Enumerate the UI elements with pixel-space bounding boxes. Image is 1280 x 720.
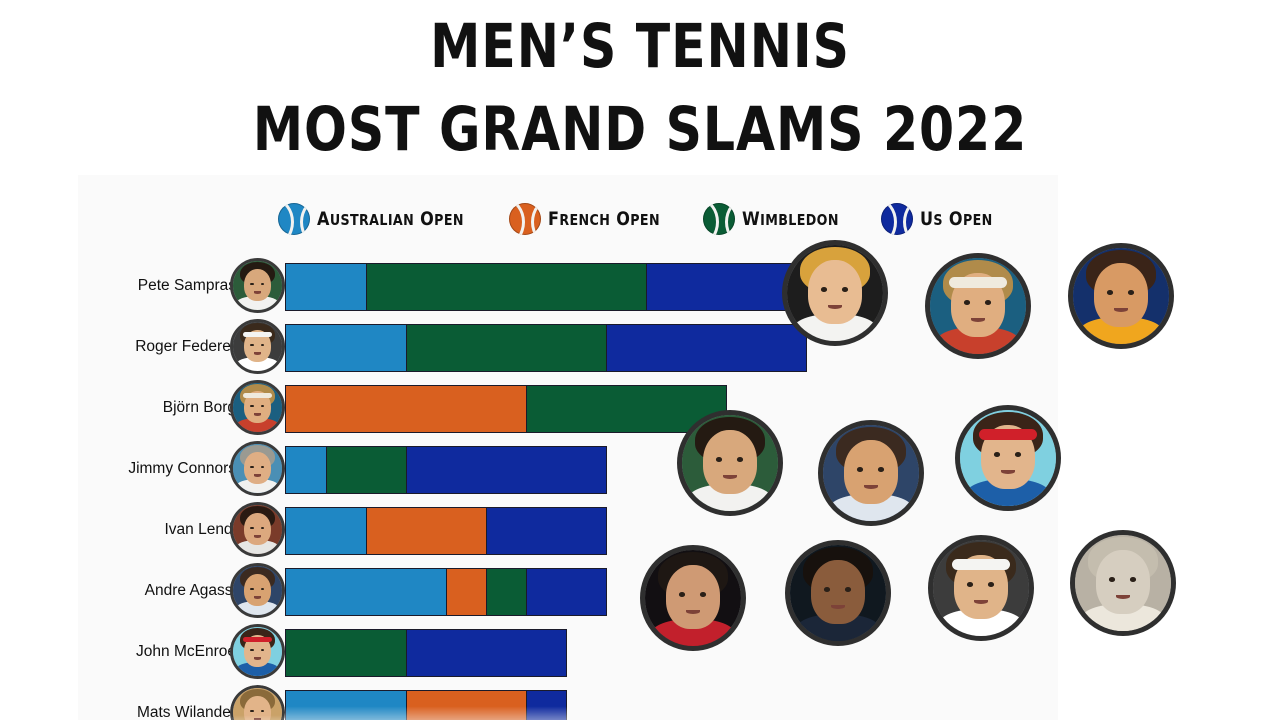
player-name-label: Mats Wilander xyxy=(78,682,236,720)
player-avatar xyxy=(230,502,285,557)
stacked-bar xyxy=(285,568,607,616)
portrait-face xyxy=(787,245,883,341)
bar-segment-us-open xyxy=(526,569,606,615)
bar-segment-australian-open xyxy=(286,447,326,493)
player-avatar xyxy=(230,319,285,374)
portrait-face xyxy=(823,425,919,521)
legend-label: US OPEN xyxy=(920,208,993,230)
bar-segment-french-open xyxy=(406,691,526,720)
title-block: MEN’S TENNIS MOST GRAND SLAMS 2022 xyxy=(0,16,1280,160)
bar-segment-french-open xyxy=(366,508,486,554)
player-photo-collage xyxy=(640,240,1240,710)
chart-legend: AUSTRALIAN OPENFRENCH OPENWIMBLEDONUS OP… xyxy=(278,197,1058,241)
stacked-bar xyxy=(285,446,607,494)
portrait-face xyxy=(1073,248,1169,344)
tennis-ball-icon xyxy=(881,203,913,235)
bar-segment-us-open xyxy=(526,691,566,720)
portrait-face xyxy=(930,258,1026,354)
portrait-face xyxy=(960,410,1056,506)
portrait-face xyxy=(790,545,886,641)
legend-item-australian-open[interactable]: AUSTRALIAN OPEN xyxy=(278,203,473,235)
page-title-line-1: MEN’S TENNIS xyxy=(51,16,1229,77)
stacked-bar xyxy=(285,507,607,555)
bar-segment-us-open xyxy=(406,447,606,493)
legend-label: AUSTRALIAN OPEN xyxy=(317,208,464,230)
john-mcenroe-portrait xyxy=(955,405,1061,511)
legend-item-wimbledon[interactable]: WIMBLEDON xyxy=(703,203,845,235)
player-name-label: Roger Federer xyxy=(78,316,236,377)
ball-seam xyxy=(881,203,913,235)
portrait-face xyxy=(645,550,741,646)
player-avatar xyxy=(230,258,285,313)
portrait-face xyxy=(233,444,282,493)
infographic-canvas: MEN’S TENNIS MOST GRAND SLAMS 2022 AUSTR… xyxy=(0,0,1280,720)
tennis-ball-icon xyxy=(703,203,735,235)
tennis-ball-icon xyxy=(278,203,310,235)
bar-segment-australian-open xyxy=(286,569,446,615)
player-name-label: John McEnroe xyxy=(78,621,236,682)
player-name-label: Andre Agassi xyxy=(78,560,236,621)
legend-label: FRENCH OPEN xyxy=(548,208,660,230)
arthur-ashe-portrait xyxy=(785,540,891,646)
player-avatar xyxy=(230,380,285,435)
portrait-face xyxy=(233,688,282,720)
rafael-nadal-portrait xyxy=(1068,243,1174,349)
bar-segment-australian-open xyxy=(286,325,406,371)
bar-segment-wimbledon xyxy=(486,569,526,615)
andre-agassi-portrait xyxy=(818,420,924,526)
pete-sampras-portrait xyxy=(677,410,783,516)
player-name-label: Björn Borg xyxy=(78,377,236,438)
novak-djokovic-portrait xyxy=(640,545,746,651)
bar-segment-us-open xyxy=(486,508,606,554)
bar-segment-wimbledon xyxy=(366,264,646,310)
player-name-label: Jimmy Connors xyxy=(78,438,236,499)
legend-item-french-open[interactable]: FRENCH OPEN xyxy=(509,203,667,235)
legend-label: WIMBLEDON xyxy=(742,208,839,230)
boris-becker-portrait xyxy=(782,240,888,346)
portrait-face xyxy=(233,261,282,310)
ball-seam xyxy=(703,203,735,235)
bjorn-borg-portrait xyxy=(925,253,1031,359)
rod-laver-portrait xyxy=(1070,530,1176,636)
stacked-bar xyxy=(285,690,567,720)
ball-seam xyxy=(509,203,541,235)
portrait-face xyxy=(233,505,282,554)
portrait-face xyxy=(233,627,282,676)
bar-segment-australian-open xyxy=(286,691,406,720)
player-avatar xyxy=(230,563,285,618)
bar-segment-australian-open xyxy=(286,264,366,310)
bar-segment-australian-open xyxy=(286,508,366,554)
player-avatar xyxy=(230,441,285,496)
portrait-face xyxy=(1075,535,1171,631)
portrait-face xyxy=(933,540,1029,636)
bar-segment-french-open xyxy=(446,569,486,615)
portrait-face xyxy=(233,566,282,615)
player-name-label: Ivan Lendl xyxy=(78,499,236,560)
legend-item-us-open[interactable]: US OPEN xyxy=(881,203,997,235)
portrait-face xyxy=(233,383,282,432)
roger-federer-portrait xyxy=(928,535,1034,641)
ball-seam xyxy=(278,203,310,235)
player-name-label: Pete Sampras xyxy=(78,255,236,316)
bar-segment-wimbledon xyxy=(286,630,406,676)
page-title-line-2: MOST GRAND SLAMS 2022 xyxy=(51,99,1229,160)
bar-segment-us-open xyxy=(406,630,566,676)
portrait-face xyxy=(682,415,778,511)
player-avatar xyxy=(230,624,285,679)
portrait-face xyxy=(233,322,282,371)
tennis-ball-icon xyxy=(509,203,541,235)
player-avatar xyxy=(230,685,285,720)
stacked-bar xyxy=(285,629,567,677)
bar-segment-wimbledon xyxy=(406,325,606,371)
bar-segment-wimbledon xyxy=(326,447,406,493)
bar-segment-french-open xyxy=(286,386,526,432)
